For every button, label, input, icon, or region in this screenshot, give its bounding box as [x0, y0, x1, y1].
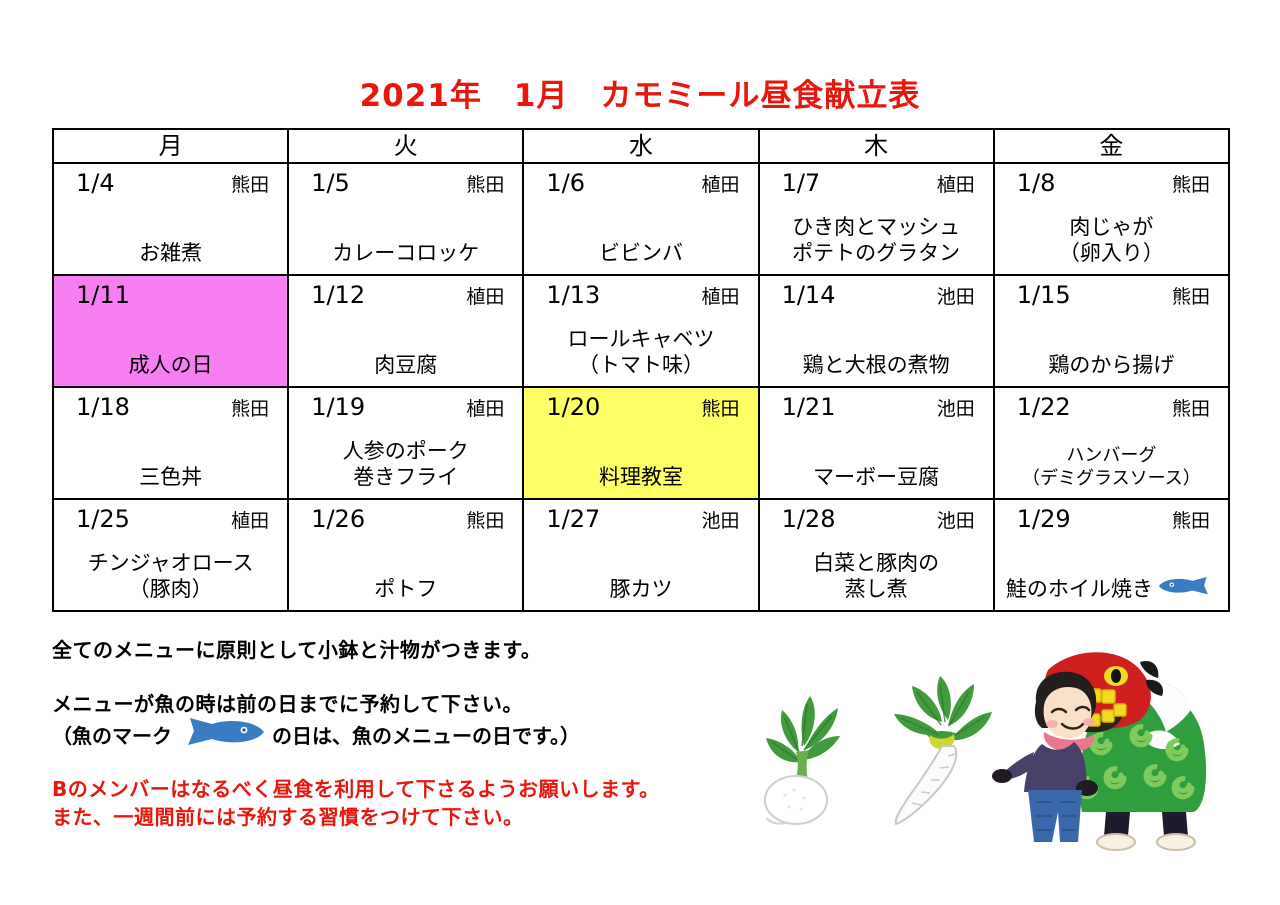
day-date-label: 1/26: [311, 504, 365, 534]
day-menu-label: マーボー豆腐: [760, 464, 993, 490]
calendar-day-cell[interactable]: 1/13植田ロールキャベツ （トマト味）: [523, 275, 758, 387]
daikon-illustration: [882, 672, 1007, 836]
day-menu-label: 肉じゃが （卵入り）: [995, 214, 1228, 266]
calendar-day-cell[interactable]: 1/21池田マーボー豆腐: [759, 387, 994, 499]
day-staff-label: 熊田: [1172, 506, 1214, 536]
day-staff-label: 熊田: [466, 506, 508, 536]
day-cell-header: 1/26熊田: [289, 500, 522, 536]
day-cell-header: 1/12植田: [289, 276, 522, 312]
calendar-day-cell[interactable]: 1/18熊田三色丼: [53, 387, 288, 499]
day-menu-label: チンジャオロース （豚肉）: [54, 550, 287, 602]
calendar-day-cell[interactable]: 1/28池田白菜と豚肉の 蒸し煮: [759, 499, 994, 611]
calendar-day-cell[interactable]: 1/8熊田肉じゃが （卵入り）: [994, 163, 1229, 275]
note-line-4: Bのメンバーはなるべく昼食を利用して下さるようお願いします。: [52, 775, 772, 803]
calendar-day-cell[interactable]: 1/4熊田お雑煮: [53, 163, 288, 275]
day-staff-label: 池田: [702, 506, 744, 536]
day-menu-label: 鶏と大根の煮物: [760, 352, 993, 378]
day-menu-label: 豚カツ: [524, 576, 757, 602]
day-date-label: 1/7: [782, 168, 821, 198]
day-staff-label: 池田: [937, 506, 979, 536]
day-staff-label: 植田: [466, 394, 508, 424]
day-staff-label: 植田: [937, 170, 979, 200]
day-date-label: 1/6: [546, 168, 585, 198]
day-date-label: 1/22: [1017, 392, 1071, 422]
day-date-label: 1/12: [311, 280, 365, 310]
shishimai-illustration: [990, 636, 1230, 865]
day-staff-label: 熊田: [1172, 170, 1214, 200]
day-staff-label: 植田: [702, 170, 744, 200]
day-menu-label: ポトフ: [289, 576, 522, 602]
day-cell-header: 1/21池田: [760, 388, 993, 424]
day-staff-label: 植田: [466, 282, 508, 312]
calendar-week-row: 1/25植田チンジャオロース （豚肉）1/26熊田ポトフ1/27池田豚カツ1/2…: [53, 499, 1229, 611]
day-staff-label: 熊田: [466, 170, 508, 200]
day-cell-header: 1/28池田: [760, 500, 993, 536]
day-cell-header: 1/8熊田: [995, 164, 1228, 200]
calendar-week-row: 1/4熊田お雑煮1/5熊田カレーコロッケ1/6植田ビビンバ1/7植田ひき肉とマッ…: [53, 163, 1229, 275]
calendar-day-cell[interactable]: 1/11成人の日: [53, 275, 288, 387]
day-cell-header: 1/18熊田: [54, 388, 287, 424]
day-staff-label: 池田: [937, 282, 979, 312]
day-menu-label: お雑煮: [54, 240, 287, 266]
calendar-body: 1/4熊田お雑煮1/5熊田カレーコロッケ1/6植田ビビンバ1/7植田ひき肉とマッ…: [53, 163, 1229, 611]
day-menu-label: カレーコロッケ: [289, 240, 522, 266]
day-menu-label: ひき肉とマッシュ ポテトのグラタン: [760, 214, 993, 266]
day-date-label: 1/21: [782, 392, 836, 422]
calendar-day-cell[interactable]: 1/19植田人参のポーク 巻きフライ: [288, 387, 523, 499]
day-menu-label: 鮭のホイル焼き: [995, 576, 1228, 602]
calendar-day-cell[interactable]: 1/25植田チンジャオロース （豚肉）: [53, 499, 288, 611]
day-cell-header: 1/6植田: [524, 164, 757, 200]
day-date-label: 1/13: [546, 280, 600, 310]
day-menu-label: 人参のポーク 巻きフライ: [289, 438, 522, 490]
day-menu-label: 鶏のから揚げ: [995, 352, 1228, 378]
day-staff-label: 池田: [937, 394, 979, 424]
day-cell-header: 1/4熊田: [54, 164, 287, 200]
note-fish-legend-prefix: （魚のマーク: [52, 722, 172, 750]
day-cell-header: 1/19植田: [289, 388, 522, 424]
day-menu-label: ビビンバ: [524, 240, 757, 266]
day-cell-header: 1/27池田: [524, 500, 757, 536]
weekday-header-wed: 水: [523, 129, 758, 163]
calendar-day-cell[interactable]: 1/26熊田ポトフ: [288, 499, 523, 611]
weekday-header-row: 月 火 水 木 金: [53, 129, 1229, 163]
weekday-header-tue: 火: [288, 129, 523, 163]
day-date-label: 1/4: [76, 168, 115, 198]
calendar-week-row: 1/18熊田三色丼1/19植田人参のポーク 巻きフライ1/20熊田料理教室1/2…: [53, 387, 1229, 499]
day-staff-label: 熊田: [1172, 282, 1214, 312]
day-date-label: 1/14: [782, 280, 836, 310]
calendar-day-cell[interactable]: 1/14池田鶏と大根の煮物: [759, 275, 994, 387]
menu-calendar-table: 月 火 水 木 金 1/4熊田お雑煮1/5熊田カレーコロッケ1/6植田ビビンバ1…: [52, 128, 1230, 612]
day-menu-label: 肉豆腐: [289, 352, 522, 378]
calendar-day-cell[interactable]: 1/12植田肉豆腐: [288, 275, 523, 387]
day-cell-header: 1/11: [54, 276, 287, 310]
calendar-day-cell[interactable]: 1/29熊田鮭のホイル焼き: [994, 499, 1229, 611]
note-line-3: （魚のマーク の日は、魚のメニューの日です。）: [52, 718, 772, 753]
note-fish-legend-suffix: の日は、魚のメニューの日です。）: [272, 722, 580, 750]
day-menu-text: 鮭のホイル焼き: [1006, 576, 1153, 602]
day-staff-label: 熊田: [702, 394, 744, 424]
fish-icon: [1155, 576, 1217, 602]
calendar-day-cell[interactable]: 1/27池田豚カツ: [523, 499, 758, 611]
day-cell-header: 1/5熊田: [289, 164, 522, 200]
day-cell-header: 1/14池田: [760, 276, 993, 312]
day-menu-label: 三色丼: [54, 464, 287, 490]
day-cell-header: 1/22熊田: [995, 388, 1228, 424]
calendar-day-cell[interactable]: 1/15熊田鶏のから揚げ: [994, 275, 1229, 387]
day-staff-label: 植田: [231, 506, 273, 536]
day-cell-header: 1/7植田: [760, 164, 993, 200]
notes-section: 全てのメニューに原則として小鉢と汁物がつきます。 メニューが魚の時は前の日までに…: [52, 636, 772, 831]
turnip-illustration: [752, 690, 862, 829]
day-staff-label: 熊田: [1172, 394, 1214, 424]
day-date-label: 1/28: [782, 504, 836, 534]
note-line-5: また、一週間前には予約する習慣をつけて下さい。: [52, 803, 772, 831]
day-staff-label: 植田: [702, 282, 744, 312]
day-menu-label: ハンバーグ （デミグラスソース）: [995, 444, 1228, 490]
page-title: 2021年 1月 カモミール昼食献立表: [0, 70, 1280, 115]
day-date-label: 1/11: [76, 280, 130, 310]
calendar-day-cell[interactable]: 1/5熊田カレーコロッケ: [288, 163, 523, 275]
calendar-day-cell[interactable]: 1/6植田ビビンバ: [523, 163, 758, 275]
calendar-day-cell[interactable]: 1/7植田ひき肉とマッシュ ポテトのグラタン: [759, 163, 994, 275]
day-date-label: 1/19: [311, 392, 365, 422]
fish-icon: [174, 718, 270, 753]
day-cell-header: 1/20熊田: [524, 388, 757, 424]
calendar-day-cell[interactable]: 1/20熊田料理教室: [523, 387, 758, 499]
day-date-label: 1/20: [546, 392, 600, 422]
day-menu-label: 成人の日: [54, 352, 287, 378]
day-date-label: 1/18: [76, 392, 130, 422]
day-date-label: 1/29: [1017, 504, 1071, 534]
day-date-label: 1/25: [76, 504, 130, 534]
day-date-label: 1/27: [546, 504, 600, 534]
weekday-header-fri: 金: [994, 129, 1229, 163]
day-menu-label: 料理教室: [524, 464, 757, 490]
day-date-label: 1/15: [1017, 280, 1071, 310]
day-cell-header: 1/15熊田: [995, 276, 1228, 312]
day-date-label: 1/8: [1017, 168, 1056, 198]
note-line-2: メニューが魚の時は前の日までに予約して下さい。: [52, 690, 772, 718]
day-cell-header: 1/13植田: [524, 276, 757, 312]
day-menu-label: ロールキャベツ （トマト味）: [524, 326, 757, 378]
weekday-header-mon: 月: [53, 129, 288, 163]
calendar-week-row: 1/11成人の日1/12植田肉豆腐1/13植田ロールキャベツ （トマト味）1/1…: [53, 275, 1229, 387]
calendar-day-cell[interactable]: 1/22熊田ハンバーグ （デミグラスソース）: [994, 387, 1229, 499]
day-cell-header: 1/29熊田: [995, 500, 1228, 536]
day-date-label: 1/5: [311, 168, 350, 198]
day-menu-label: 白菜と豚肉の 蒸し煮: [760, 550, 993, 602]
weekday-header-thu: 木: [759, 129, 994, 163]
note-line-1: 全てのメニューに原則として小鉢と汁物がつきます。: [52, 636, 772, 664]
day-staff-label: 熊田: [231, 170, 273, 200]
day-staff-label: 熊田: [231, 394, 273, 424]
day-cell-header: 1/25植田: [54, 500, 287, 536]
